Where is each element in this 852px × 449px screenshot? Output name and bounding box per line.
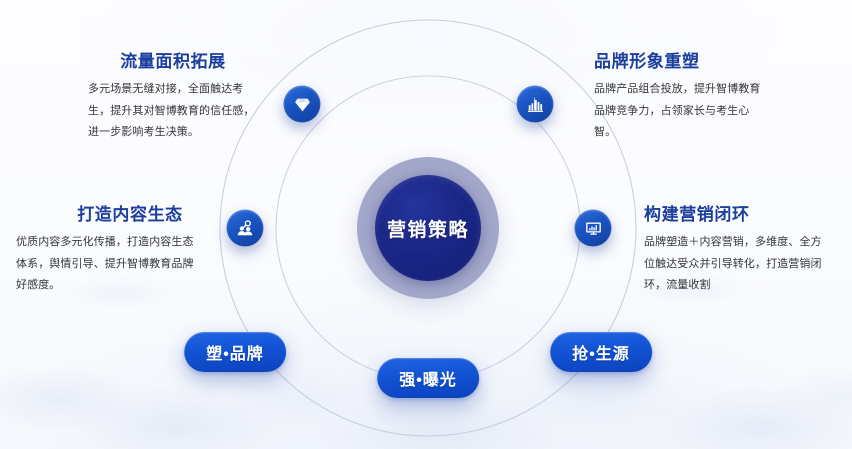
center-hub-disc: 营销策略 (375, 175, 481, 281)
user-group-search-icon (236, 219, 255, 238)
feature-block-top-left: 流量面积拓展 多元场景无缝对接，全面触达考生，提升其对智博教育的信任感，进一步影… (88, 52, 258, 143)
pill-grab-students[interactable]: 抢•生源 (550, 332, 652, 372)
diamond-icon (293, 95, 311, 113)
feature-body: 品牌产品组合投放，提升智博教育品牌竞争力，占领家长与考生心智。 (594, 79, 764, 142)
icon-bubble-user-group-search[interactable] (227, 210, 264, 247)
bar-chart-building-icon (526, 95, 544, 113)
center-hub-label: 营销策略 (387, 215, 469, 242)
pill-brand-shaping[interactable]: 塑•品牌 (184, 332, 286, 372)
feature-body: 多元场景无缝对接，全面触达考生，提升其对智博教育的信任感，进一步影响考生决策。 (88, 79, 258, 142)
icon-bubble-bar-chart-building[interactable] (517, 86, 554, 123)
pill-label: 塑•品牌 (206, 340, 264, 364)
infographic-canvas: 营销策略 (0, 0, 852, 449)
monitor-chart-icon (584, 219, 602, 237)
feature-heading: 品牌形象重塑 (594, 52, 764, 72)
icon-bubble-diamond[interactable] (284, 86, 321, 123)
feature-body: 优质内容多元化传播，打造内容生态体系，舆情引导、提升智博教育品牌好感度。 (16, 232, 198, 295)
pill-strong-exposure[interactable]: 强•曝光 (377, 358, 479, 398)
pill-label: 强•曝光 (399, 366, 457, 390)
feature-heading: 流量面积拓展 (88, 52, 258, 72)
feature-heading: 构建营销闭环 (644, 205, 822, 225)
feature-block-top-right: 品牌形象重塑 品牌产品组合投放，提升智博教育品牌竞争力，占领家长与考生心智。 (594, 52, 764, 143)
feature-heading: 打造内容生态 (16, 205, 198, 225)
feature-block-bottom-left: 打造内容生态 优质内容多元化传播，打造内容生态体系，舆情引导、提升智博教育品牌好… (16, 205, 198, 296)
feature-body: 品牌塑造＋内容营销，多维度、全方位触达受众并引导转化，打造营销闭环，流量收割 (644, 232, 822, 295)
feature-block-bottom-right: 构建营销闭环 品牌塑造＋内容营销，多维度、全方位触达受众并引导转化，打造营销闭环… (644, 205, 822, 296)
center-hub: 营销策略 (357, 157, 499, 299)
pill-label: 抢•生源 (572, 340, 630, 364)
icon-bubble-monitor-chart[interactable] (575, 210, 612, 247)
